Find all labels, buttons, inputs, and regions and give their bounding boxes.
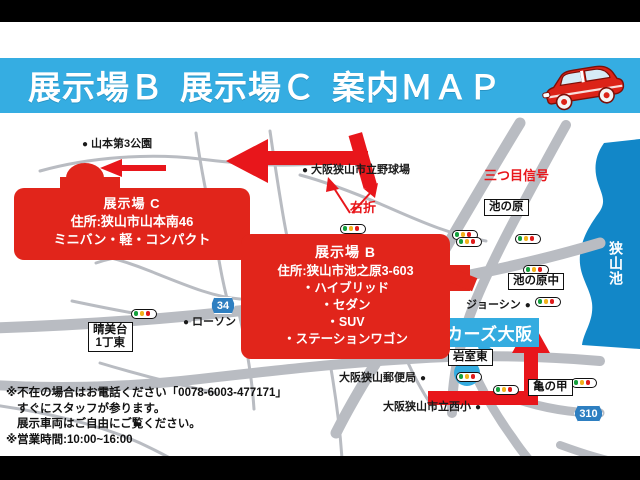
footer-notes: ※不在の場合はお電話ください「0078-6003-477171」 すぐにスタッフ… — [6, 386, 306, 448]
poi-lawson: ローソン — [183, 316, 236, 329]
intersection-kamenoko: 亀の甲 — [528, 379, 573, 396]
intersection-ikenoharanaka: 池の原中 — [508, 273, 564, 290]
traffic-signal-ikenohara-east — [515, 234, 541, 244]
arrow-ikenohara-left — [226, 132, 377, 189]
intersection-harumidai: 晴美台 1丁東 — [88, 322, 133, 352]
title-part-2: 展示場Ｃ — [180, 69, 316, 106]
annotation-third-signal: 三つ目信号 — [484, 165, 549, 184]
route-shield-310: 310 — [574, 405, 603, 422]
traffic-signal-joshin — [535, 297, 561, 307]
callout-showroom-b[interactable]: 展示場 B 住所:狭山市池之原3-603 ・ハイブリッド ・セダン ・SUV ・… — [241, 234, 450, 359]
intersection-iwamurohigashi: 岩室東 — [448, 349, 493, 366]
note-line-3: 展示車両はご自由にご覧ください。 — [6, 417, 306, 433]
callout-b-vehicle-3: ・ステーションワゴン — [241, 331, 450, 348]
intersection-ikenohara: 池の原 — [484, 199, 529, 216]
poi-joshin: ジョーシン — [466, 299, 531, 312]
callout-b-address: 住所:狭山市池之原3-603 — [241, 262, 450, 280]
traffic-signal-kamenoko — [571, 378, 597, 388]
screenshot-root: 展示場Ｂ展示場Ｃ案内ＭＡＰ — [0, 0, 640, 480]
callout-showroom-c[interactable]: 展示場 C 住所:狭山市山本南46 ミニバン・軽・コンパクト — [14, 188, 250, 260]
page-title: 展示場Ｂ展示場Ｃ案内ＭＡＰ — [28, 68, 502, 108]
poi-yamamoto-park: 山本第3公園 — [82, 138, 152, 151]
traffic-signal-iwamurohigashi — [456, 372, 482, 382]
title-part-3: 案内ＭＡＰ — [332, 69, 502, 106]
callout-c-name: 展示場 C — [14, 195, 250, 213]
destination-cars-osaka: カーズ大阪 — [440, 318, 539, 347]
callout-b-vehicle-1: ・セダン — [241, 297, 450, 314]
callout-c-vehicles: ミニバン・軽・コンパクト — [14, 231, 250, 249]
flyer-page: 展示場Ｂ展示場Ｃ案内ＭＡＰ — [0, 22, 640, 456]
intersection-harumidai-line1: 晴美台 — [93, 324, 128, 336]
traffic-signal-ikenohara — [456, 237, 482, 247]
note-line-4: ※営業時間:10:00~16:00 — [6, 433, 306, 449]
letterbox-top — [0, 0, 640, 22]
traffic-signal-ukai — [340, 224, 366, 234]
annotation-turn-right: 右折 — [350, 197, 376, 216]
traffic-signal-harumidai — [131, 309, 157, 319]
note-line-1: ※不在の場合はお電話ください「0078-6003-477171」 — [6, 386, 306, 402]
lake-label: 狭山池 — [608, 241, 624, 286]
callout-b-name: 展示場 B — [241, 242, 450, 262]
callout-c-address: 住所:狭山市山本南46 — [14, 213, 250, 231]
title-part-1: 展示場Ｂ — [28, 69, 164, 106]
arrow-left-top — [100, 159, 166, 177]
poi-nishi-elementary: 大阪狭山市立西小 — [383, 401, 481, 414]
note-line-2: すぐにスタッフが参ります。 — [6, 402, 306, 418]
poi-osakasayama-stadium: 大阪狭山市立野球場 — [302, 164, 410, 177]
intersection-harumidai-line2: 1丁東 — [96, 337, 125, 349]
callout-b-vehicle-2: ・SUV — [241, 314, 450, 331]
poi-post-office: 大阪狭山郵便局 — [339, 372, 426, 385]
callout-b-vehicle-0: ・ハイブリッド — [241, 280, 450, 297]
letterbox-bottom — [0, 456, 640, 480]
red-minivan-icon — [536, 62, 628, 112]
traffic-signal-kamenoko-west — [493, 385, 519, 395]
route-shield-34: 34 — [211, 297, 235, 314]
